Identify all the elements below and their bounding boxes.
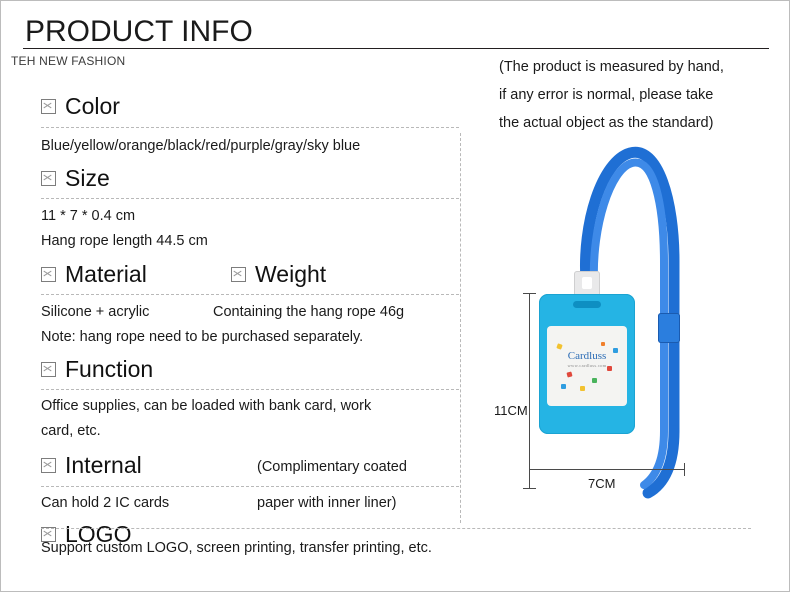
section-color-text: Blue/yellow/orange/black/red/purple/gray… xyxy=(41,134,459,159)
bullet-marker-icon xyxy=(41,171,56,186)
divider-logo xyxy=(41,528,751,529)
divider-internal xyxy=(41,486,459,487)
section-material-title: Material xyxy=(65,261,147,287)
confetti-dot xyxy=(592,378,597,383)
section-size-heading: Size xyxy=(41,165,459,191)
section-logo-text: Support custom LOGO, screen printing, tr… xyxy=(41,537,432,559)
height-dimension-cap-top xyxy=(523,293,536,294)
page-subtitle: TEH NEW FASHION xyxy=(11,54,125,68)
lanyard-slider xyxy=(658,313,680,343)
height-dimension-label: 11CM xyxy=(494,403,528,418)
internal-values-row: Can hold 2 IC cards paper with inner lin… xyxy=(41,491,459,516)
specs-column: Color Blue/yellow/orange/black/red/purpl… xyxy=(41,93,459,547)
page-header: PRODUCT INFO xyxy=(1,1,789,47)
section-internal-extra-line-1: (Complimentary coated xyxy=(257,450,407,480)
section-weight-title: Weight xyxy=(255,261,326,287)
section-internal-text: Can hold 2 IC cards xyxy=(41,491,257,516)
material-weight-values: Silicone + acrylic Containing the hang r… xyxy=(41,300,459,325)
material-weight-headings: Material Weight xyxy=(41,261,459,287)
section-size-line-1: 11 * 7 * 0.4 cm xyxy=(41,204,459,229)
badge-window: Cardluss www.cardluss.com xyxy=(547,326,627,406)
height-dimension-line xyxy=(529,293,530,488)
height-dimension-cap-bottom xyxy=(523,488,536,489)
measurement-note: (The product is measured by hand, if any… xyxy=(499,53,781,137)
product-photo-inner: Cardluss www.cardluss.com 11CM xyxy=(498,131,756,511)
confetti-dot xyxy=(607,366,612,371)
measurement-note-line-2: if any error is normal, please take xyxy=(499,81,781,109)
internal-heading-row: Internal (Complimentary coated xyxy=(41,450,459,480)
section-size-line-2: Hang rope length 44.5 cm xyxy=(41,229,459,254)
page-title: PRODUCT INFO xyxy=(25,17,253,47)
width-dimension-cap-right xyxy=(684,463,685,476)
width-dimension-line xyxy=(529,469,685,470)
section-internal-heading: Internal xyxy=(41,450,257,480)
section-weight-text: Containing the hang rope 46g xyxy=(213,300,404,325)
confetti-dot xyxy=(613,348,618,353)
section-size-title: Size xyxy=(65,165,110,191)
divider-function xyxy=(41,389,459,390)
product-photo: Cardluss www.cardluss.com 11CM xyxy=(498,131,756,511)
measurement-note-line-1: (The product is measured by hand, xyxy=(499,53,781,81)
confetti-dot xyxy=(601,342,605,346)
section-internal-extra-line-2: paper with inner liner) xyxy=(257,491,396,516)
confetti-dot xyxy=(561,384,566,389)
section-function-line-2: card, etc. xyxy=(41,419,459,444)
section-material-text: Silicone + acrylic xyxy=(41,300,213,325)
section-weight-heading: Weight xyxy=(231,261,326,287)
section-material-heading: Material xyxy=(41,261,231,287)
divider-size xyxy=(41,198,459,199)
confetti-dot xyxy=(580,386,585,391)
section-function-heading: Function xyxy=(41,356,459,382)
product-info-page: PRODUCT INFO TEH NEW FASHION (The produc… xyxy=(0,0,790,592)
section-color-title: Color xyxy=(65,93,120,119)
bullet-marker-icon xyxy=(41,99,56,114)
section-internal-title: Internal xyxy=(65,452,142,478)
badge-slot xyxy=(573,301,601,308)
section-function-title: Function xyxy=(65,356,153,382)
vertical-divider xyxy=(460,133,461,523)
badge-brand-name: Cardluss xyxy=(568,350,607,362)
clip-hole xyxy=(582,277,592,289)
confetti-dot xyxy=(556,343,562,349)
width-dimension-cap-left xyxy=(529,463,530,476)
bullet-marker-icon xyxy=(41,362,56,377)
width-dimension-label: 7CM xyxy=(588,476,615,491)
hang-rope-note: Note: hang rope need to be purchased sep… xyxy=(41,325,459,350)
bullet-marker-icon xyxy=(41,267,56,282)
badge-holder: Cardluss www.cardluss.com xyxy=(539,294,635,434)
bullet-marker-icon xyxy=(231,267,246,282)
header-divider xyxy=(23,48,769,49)
section-color-heading: Color xyxy=(41,93,459,119)
confetti-dot xyxy=(566,371,572,377)
divider-color xyxy=(41,127,459,128)
divider-material xyxy=(41,294,459,295)
bullet-marker-icon xyxy=(41,458,56,473)
section-function-line-1: Office supplies, can be loaded with bank… xyxy=(41,394,459,419)
